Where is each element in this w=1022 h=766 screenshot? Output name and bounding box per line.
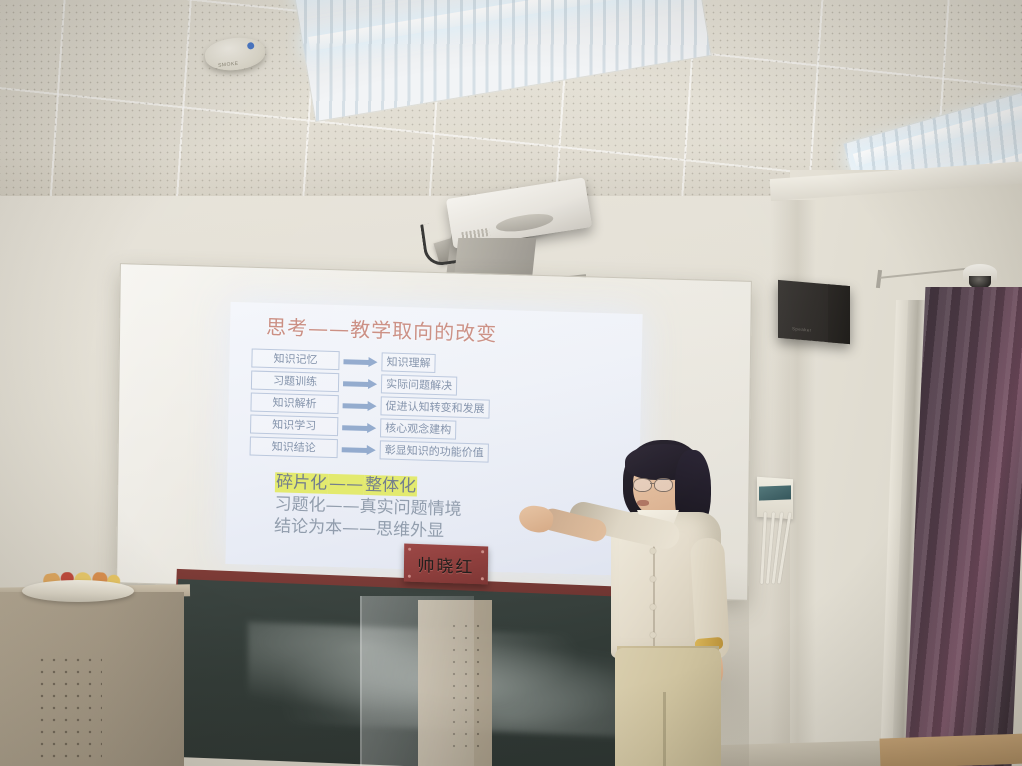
summary-left: 结论为本 — [274, 516, 342, 538]
diagram-from-cell: 知识学习 — [250, 414, 338, 436]
summary-right: 整体化 — [364, 475, 417, 497]
summary-right: 真实问题情境 — [359, 497, 461, 520]
smoke-detector-led — [247, 42, 255, 50]
classroom-photo-scene: SMOKE Speaker Promethean ActivWall INTER… — [0, 0, 1022, 766]
glasses-icon — [633, 478, 677, 491]
diagram-from-cell: 知识解析 — [250, 392, 338, 414]
diagram-from-cell: 知识结论 — [250, 436, 338, 458]
diagram-from-cell: 知识记忆 — [251, 348, 339, 370]
summary-left: 习题化 — [274, 494, 325, 516]
speaker-brand-label: Speaker — [792, 326, 812, 333]
blouse-button — [650, 548, 656, 554]
podium-left — [0, 592, 184, 766]
blouse-button — [650, 576, 656, 582]
summary-dash: —— — [325, 496, 359, 517]
summary-dash: —— — [342, 518, 376, 539]
arrow-right-icon — [342, 445, 376, 454]
slide-diagram: 知识记忆 知识理解 习题训练 实际问题解决 知识解析 促进认知转变和发展 知识学… — [250, 348, 612, 469]
speaker-face — [828, 284, 850, 344]
diagram-to-cell: 实际问题解决 — [381, 374, 457, 395]
diagram-from-cell: 习题训练 — [251, 370, 339, 392]
hanging-cables — [760, 512, 800, 592]
diagram-to-cell: 促进认知转变和发展 — [380, 396, 489, 418]
glass-pane — [360, 596, 474, 766]
projector-lens — [495, 211, 555, 235]
arrow-right-icon — [342, 423, 376, 432]
summary-dash: —— — [328, 474, 364, 495]
fruit-plate — [22, 580, 134, 602]
summary-line: 结论为本——思维外显 — [274, 515, 461, 543]
diagram-to-cell: 核心观念建构 — [380, 418, 456, 439]
slide-summary-lines: 碎片化——整体化 习题化——真实问题情境 结论为本——思维外显 — [274, 471, 462, 543]
blouse-button — [650, 632, 656, 638]
presenter — [575, 440, 765, 766]
arrow-right-icon — [343, 401, 377, 410]
presenter-trousers — [615, 648, 721, 766]
summary-left: 碎片化 — [275, 472, 328, 494]
name-plate: 帅晓红 — [404, 544, 488, 585]
far-desk — [880, 733, 1022, 766]
arrow-right-icon — [343, 357, 377, 366]
blouse-button — [650, 604, 656, 610]
name-plate-text: 帅晓红 — [417, 551, 474, 578]
summary-right: 思维外显 — [376, 519, 444, 541]
smoke-detector-label: SMOKE — [218, 61, 239, 69]
presenter-mouth — [637, 500, 649, 506]
wall-speaker: Speaker — [778, 280, 850, 344]
slide-title: 思考——教学取向的改变 — [266, 311, 498, 347]
arrow-right-icon — [343, 379, 377, 388]
podium-perforation — [36, 654, 102, 766]
diagram-to-cell: 彰显知识的功能价值 — [380, 440, 489, 462]
dome-camera-icon — [963, 264, 997, 281]
diagram-to-cell: 知识理解 — [381, 352, 435, 373]
trouser-seam — [663, 692, 666, 766]
window-curtain — [905, 287, 1022, 766]
